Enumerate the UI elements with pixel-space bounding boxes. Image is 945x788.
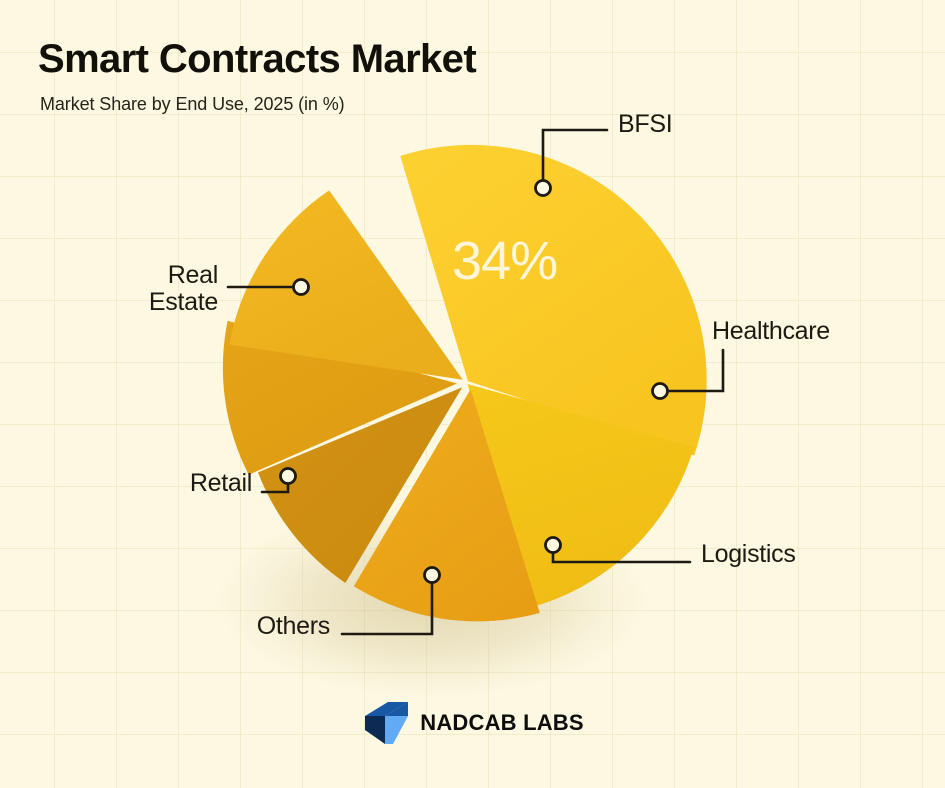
label-healthcare[interactable]: Healthcare <box>712 318 830 345</box>
marker-bfsi <box>536 181 551 196</box>
marker-others <box>425 568 440 583</box>
marker-logistics <box>546 538 561 553</box>
brand-name: NADCAB LABS <box>420 710 584 736</box>
brand-footer: NADCAB LABS <box>0 700 945 746</box>
pie-chart-svg <box>0 0 945 788</box>
label-bfsi[interactable]: BFSI <box>618 111 672 138</box>
slice-value-bfsi: 34% <box>452 230 557 292</box>
marker-retail <box>281 469 296 484</box>
marker-real-estate <box>294 280 309 295</box>
label-retail[interactable]: Retail <box>12 470 252 497</box>
nadcab-cube-logo-icon <box>361 700 409 746</box>
label-logistics[interactable]: Logistics <box>701 541 796 568</box>
marker-healthcare <box>653 384 668 399</box>
pie-chart: 34% BFSI Healthcare Logistics Others Ret… <box>0 0 945 788</box>
label-real-estate[interactable]: Real Estate <box>0 262 218 315</box>
label-others[interactable]: Others <box>82 613 330 640</box>
